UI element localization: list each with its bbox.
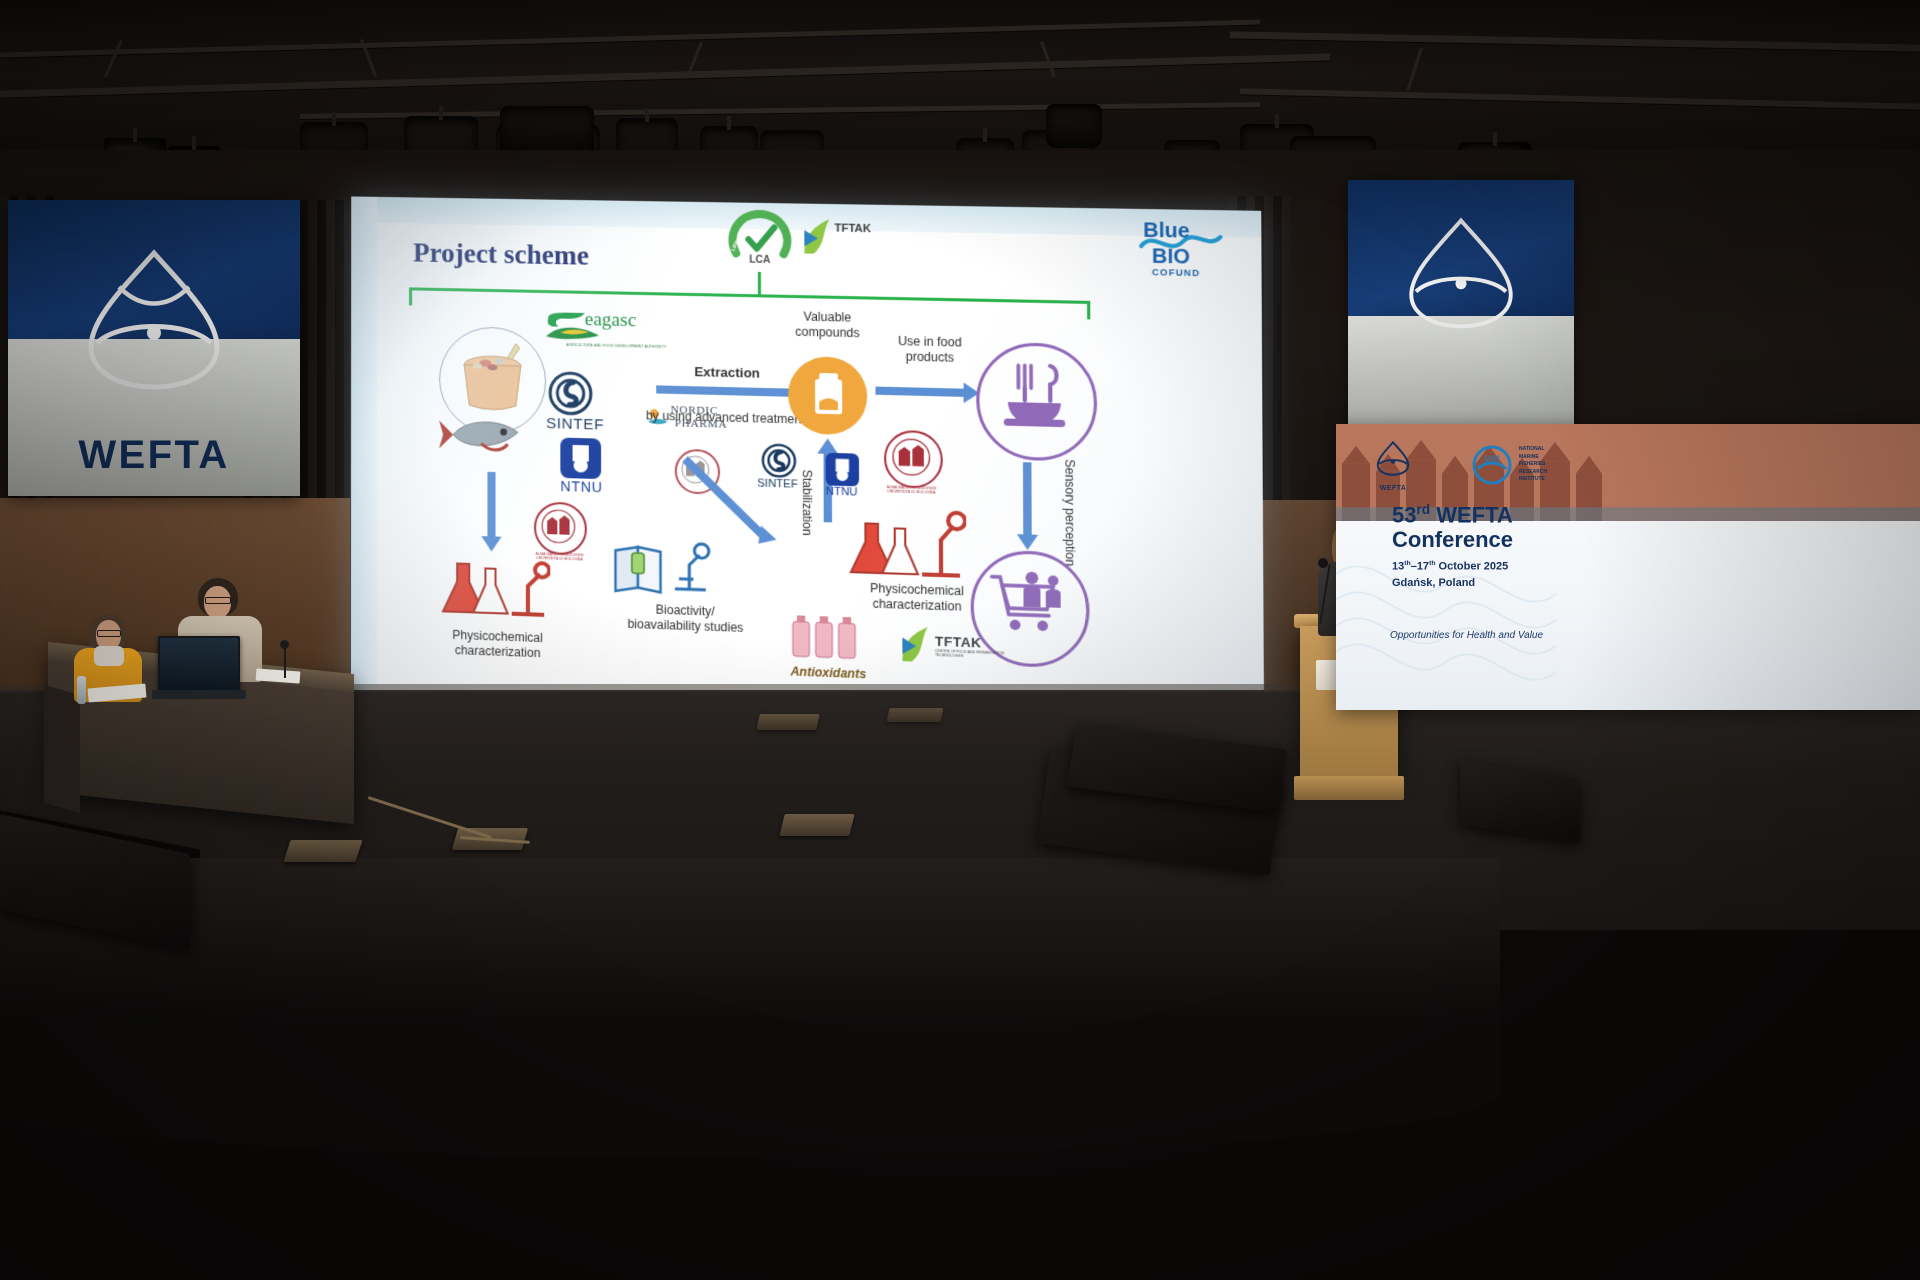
tftak-bottom-text: TFTAK <box>935 633 982 650</box>
stage-light-15 <box>1046 104 1102 148</box>
desk-bottle <box>77 676 86 704</box>
floor-plate-5 <box>887 708 944 722</box>
wefta-banner-left: WEFTA <box>8 200 300 496</box>
slide-left-band <box>351 196 377 697</box>
arrow-bioactivity <box>682 456 768 540</box>
floor-plate-4 <box>756 714 819 730</box>
laptop-base <box>152 690 246 699</box>
label-bioactivity: Bioactivity/bioavailability studies <box>603 601 768 636</box>
arrow-physicochem-left-head <box>481 536 501 552</box>
wefta-fish-logo-board <box>1370 438 1416 480</box>
laptop-monitor <box>158 636 240 692</box>
board-title-line1: 53rd WEFTA <box>1392 502 1513 528</box>
board-tagline: Opportunities for Health and Value <box>1390 630 1543 641</box>
teagasc-logo: eagasc AGRICULTURE AND FOOD DEVELOPMENT … <box>544 310 668 359</box>
floor-plate-1 <box>283 840 362 862</box>
projection-screen: Project scheme Blue BIO COFUND LIFE LCA <box>351 196 1264 731</box>
bluebio-cofund-logo: Blue BIO COFUND <box>1137 221 1240 281</box>
bluebio-text-bio: BIO <box>1152 245 1190 269</box>
antioxidant-bottles-icon <box>789 615 862 665</box>
arrow-sensory <box>1023 462 1032 539</box>
tftak-top-text: TFTAK <box>834 222 871 235</box>
person-left-scarf <box>94 646 124 666</box>
arrow-sensory-head <box>1017 534 1038 550</box>
mir-institute-lines: NATIONAL MARINE FISHERIES RESEARCH INSTI… <box>1519 446 1547 484</box>
presentation-slide: Project scheme Blue BIO COFUND LIFE LCA <box>351 196 1264 731</box>
ntnu-logo-mid: NTNU <box>826 453 882 506</box>
green-line-left-stub <box>409 287 412 305</box>
bowl-cutlery-icon <box>997 361 1071 437</box>
desk-microphone-stand <box>284 644 286 678</box>
ntnu-logo: NTNU <box>560 438 625 496</box>
ntnu-mid-wordmark: NTNU <box>826 485 858 498</box>
compound-pouch-icon <box>809 371 849 421</box>
green-line-right-stub <box>1087 301 1090 320</box>
label-physicochemical-left: Physicochemicalcharacterization <box>417 627 579 662</box>
flask-microscope-icon-right <box>849 507 967 585</box>
label-valuable-compounds: Valuablecompounds <box>778 309 878 341</box>
arrow-physicochem-left <box>487 472 495 539</box>
fish-icon <box>437 410 524 459</box>
university-of-bologna-seal-left <box>534 501 587 555</box>
bluebio-text-blue: Blue <box>1143 219 1190 244</box>
green-line-lca-stub <box>758 272 761 296</box>
arrow-use-in-food <box>875 387 965 397</box>
teagasc-wordmark: eagasc <box>585 309 637 332</box>
person-left-glasses <box>97 630 121 637</box>
svg-text:MIR: MIR <box>1484 454 1501 464</box>
label-use-in-food: Use in foodproducts <box>877 333 982 365</box>
board-title-line2: Conference <box>1392 528 1513 552</box>
label-antioxidants: Antioxidants <box>774 664 882 683</box>
floor-plate-3 <box>779 814 854 836</box>
lca-badge-label: LCA <box>728 254 792 266</box>
podium-base <box>1294 776 1404 800</box>
arrow-extraction <box>656 385 792 396</box>
mir-circle-icon: MIR <box>1472 445 1512 485</box>
board-title-block: 53rd WEFTA Conference 13th–17th October … <box>1392 502 1513 591</box>
slide-title: Project scheme <box>413 237 589 271</box>
bluebio-text-cofund: COFUND <box>1152 267 1200 278</box>
sintef-logo: SINTEF <box>548 371 621 433</box>
green-line-horizontal <box>409 287 1090 304</box>
banner-left-shade <box>8 200 300 496</box>
teagasc-tagline: AGRICULTURE AND FOOD DEVELOPMENT AUTHORI… <box>566 343 666 349</box>
conference-board: WEFTA MIR NATIONAL MARINE FISHERIES RESE… <box>1336 424 1920 710</box>
bologna-caption-right: ALMA MATER STUDIORUMUNIVERSITA DI BOLOGN… <box>874 485 950 496</box>
label-sensory-perception: Sensory perception <box>1061 459 1077 567</box>
tftak-logo-bottom: TFTAK CENTRE OF FOOD AND FERMENTATION TE… <box>897 623 1028 671</box>
flask-microscope-icon-left <box>439 557 550 623</box>
sintef-wordmark: SINTEF <box>546 415 604 434</box>
board-dates: 13th–17th October 2025 <box>1392 559 1513 575</box>
sintef-mid-wordmark: SINTEF <box>757 477 798 490</box>
sintef-logo-mid: SINTEF <box>761 443 823 496</box>
tftak-logo-top: TFTAK <box>801 216 891 262</box>
tftak-bottom-tagline: CENTRE OF FOOD AND FERMENTATION TECHNOLO… <box>935 649 1026 661</box>
conference-photo-scene: WEFTA WEFTA Project scheme Blue BIO COFU… <box>0 0 1920 1280</box>
lca-badge: LIFE LCA <box>728 208 792 272</box>
ntnu-wordmark: NTNU <box>560 478 602 495</box>
desk-microphone-head <box>280 640 289 649</box>
raw-material-bucket-icon <box>455 340 530 420</box>
board-wefta-logo: WEFTA <box>1370 438 1416 492</box>
label-extraction: Extraction <box>671 363 784 382</box>
university-of-bologna-seal-right <box>884 430 943 489</box>
board-wefta-word: WEFTA <box>1370 485 1416 492</box>
label-physicochemical-right: Physicochemicalcharacterization <box>838 580 996 615</box>
panel-desk-side <box>44 685 80 813</box>
board-logo-row: WEFTA MIR NATIONAL MARINE FISHERIES RESE… <box>1370 438 1547 492</box>
bioactivity-book-microscope-icon <box>611 534 720 600</box>
person-right-glasses <box>205 597 231 604</box>
board-mir-logo: MIR NATIONAL MARINE FISHERIES RESEARCH I… <box>1472 445 1547 485</box>
podium-microphone-head <box>1318 558 1328 568</box>
board-location: Gdańsk, Poland <box>1392 576 1513 591</box>
stage-apron-curve <box>0 858 1500 1158</box>
